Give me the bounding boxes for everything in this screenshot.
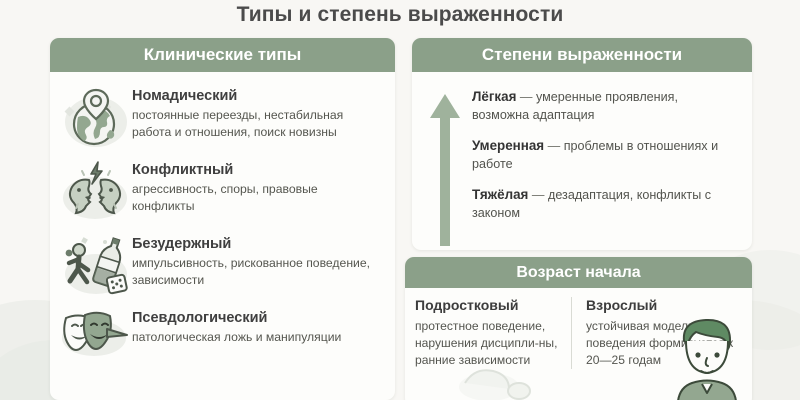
- age-column-title: Подростковый: [415, 297, 563, 313]
- running-man-bottle-dice-icon: [58, 230, 132, 298]
- card-age-of-onset: Возраст начала Подростковый протестное п…: [405, 257, 752, 400]
- dash: —: [532, 188, 545, 202]
- severity-level-label: Умеренная: [472, 138, 544, 153]
- card-severity-levels: Степени выраженности Лёгкая — умеренные …: [412, 38, 752, 250]
- list-item-desc: агрессивность, споры, правовые конфликты: [132, 181, 382, 215]
- list-item[interactable]: Лёгкая — умеренные проявления, возможна …: [472, 88, 727, 124]
- list-item[interactable]: Безудержный импульсивность, рискованное …: [50, 226, 395, 300]
- list-item[interactable]: Конфликтный агрессивность, споры, правов…: [50, 152, 395, 226]
- page-title: Типы и степень выраженности: [0, 3, 800, 27]
- card-header-age: Возраст начала: [405, 257, 752, 288]
- globe-pin-icon: [58, 82, 132, 150]
- teen-illustration: [437, 359, 547, 400]
- dash: —: [548, 139, 561, 153]
- adult-face-icon: [662, 311, 752, 400]
- list-item-title: Номадический: [132, 88, 382, 104]
- list-item-desc: патологическая ложь и манипуляции: [132, 329, 341, 346]
- up-arrow-icon: [418, 82, 472, 248]
- severity-level-label: Тяжёлая: [472, 187, 528, 202]
- list-item[interactable]: Тяжёлая — дезадаптация, конфликты с зако…: [472, 186, 727, 222]
- infographic-root: Типы и степень выраженности Клинические …: [0, 0, 800, 400]
- severity-level-label: Лёгкая: [472, 89, 516, 104]
- theatre-masks-pinocchio-icon: [58, 304, 132, 372]
- list-item-text: Псевдологический патологическая ложь и м…: [132, 304, 341, 346]
- age-column-teen[interactable]: Подростковый протестное поведение, наруш…: [415, 297, 571, 369]
- list-item-text: Безудержный импульсивность, рискованное …: [132, 230, 382, 289]
- card-header-severity: Степени выраженности: [412, 38, 752, 72]
- list-item-desc: постоянные переезды, нестабильная работа…: [132, 107, 382, 141]
- list-item[interactable]: Псевдологический патологическая ложь и м…: [50, 300, 395, 374]
- list-item[interactable]: Номадический постоянные переезды, нестаб…: [50, 78, 395, 152]
- dash: —: [520, 90, 533, 104]
- list-item-text: Номадический постоянные переезды, нестаб…: [132, 82, 382, 141]
- list-item-title: Псевдологический: [132, 310, 341, 326]
- card-header-clinical-types: Клинические типы: [50, 38, 395, 72]
- list-item-title: Конфликтный: [132, 162, 382, 178]
- list-item-title: Безудержный: [132, 236, 382, 252]
- list-item-text: Конфликтный агрессивность, споры, правов…: [132, 156, 382, 215]
- arguing-heads-icon: [58, 156, 132, 224]
- age-body: Подростковый протестное поведение, наруш…: [405, 288, 752, 369]
- severity-list: Лёгкая — умеренные проявления, возможна …: [472, 82, 727, 248]
- card-clinical-types: Клинические типы: [50, 38, 395, 400]
- severity-body: Лёгкая — умеренные проявления, возможна …: [412, 72, 752, 248]
- list-item[interactable]: Умеренная — проблемы в отношениях и рабо…: [472, 137, 727, 173]
- list-item-desc: импульсивность, рискованное поведение, з…: [132, 255, 382, 289]
- clinical-types-list: Номадический постоянные переезды, нестаб…: [50, 72, 395, 374]
